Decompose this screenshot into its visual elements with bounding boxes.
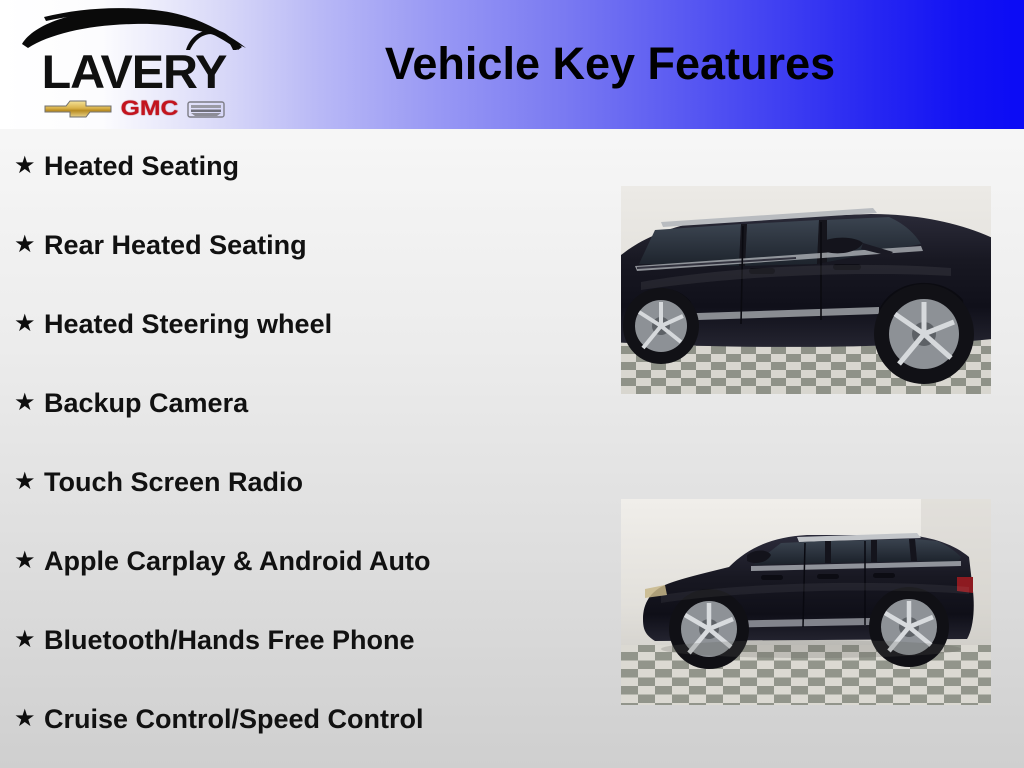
dealership-logo: LAVERY GMC [14, 4, 254, 126]
slide-root: LAVERY GMC [0, 0, 1024, 768]
list-item: ★ Rear Heated Seating [0, 225, 600, 304]
page-title: Vehicle Key Features [260, 38, 960, 90]
feature-label: Touch Screen Radio [44, 462, 600, 502]
feature-label: Heated Seating [44, 146, 600, 186]
feature-label: Cruise Control/Speed Control [44, 699, 600, 739]
logo-wordmark: LAVERY [10, 48, 257, 96]
feature-label: Heated Steering wheel [44, 304, 600, 344]
slide-header: LAVERY GMC [0, 0, 1024, 129]
list-item: ★ Backup Camera [0, 383, 600, 462]
list-item: ★ Heated Steering wheel [0, 304, 600, 383]
vehicle-photo-front-three-quarter [621, 186, 991, 394]
list-item: ★ Cruise Control/Speed Control [0, 699, 600, 768]
star-bullet-icon: ★ [14, 304, 44, 344]
feature-label: Backup Camera [44, 383, 600, 423]
vehicle-photo-side-profile [621, 499, 991, 705]
feature-label: Apple Carplay & Android Auto [44, 541, 600, 581]
star-bullet-icon: ★ [14, 462, 44, 502]
star-bullet-icon: ★ [14, 620, 44, 660]
list-item: ★ Heated Seating [0, 146, 600, 225]
list-item: ★ Bluetooth/Hands Free Phone [0, 620, 600, 699]
cadillac-crest-icon [187, 98, 225, 121]
star-bullet-icon: ★ [14, 225, 44, 265]
star-bullet-icon: ★ [14, 146, 44, 186]
list-item: ★ Apple Carplay & Android Auto [0, 541, 600, 620]
chevrolet-bowtie-icon [44, 98, 112, 120]
feature-list: ★ Heated Seating ★ Rear Heated Seating ★… [0, 146, 600, 768]
feature-label: Rear Heated Seating [44, 225, 600, 265]
list-item: ★ Touch Screen Radio [0, 462, 600, 541]
brand-logo-row: GMC [24, 94, 244, 124]
star-bullet-icon: ★ [14, 699, 44, 739]
star-bullet-icon: ★ [14, 383, 44, 423]
feature-label: Bluetooth/Hands Free Phone [44, 620, 600, 660]
gmc-logo: GMC [120, 98, 178, 120]
star-bullet-icon: ★ [14, 541, 44, 581]
